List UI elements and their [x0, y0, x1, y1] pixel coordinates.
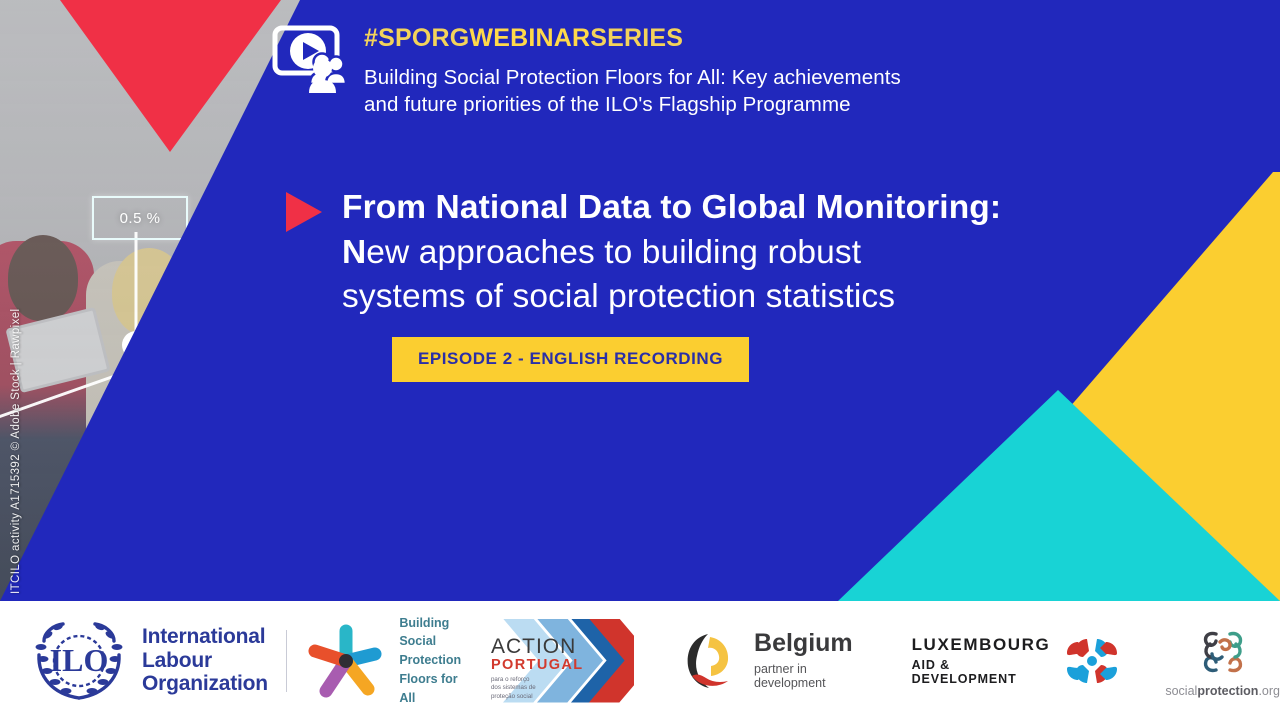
luxembourg-wordmark: LUXEMBOURG AID & DEVELOPMENT	[912, 635, 1051, 686]
header-block: #SPORGWEBINARSERIES Building Social Prot…	[272, 24, 901, 119]
hashtag-part-sporg: #SPORG	[364, 24, 469, 52]
subtitle-line-2: and future priorities of the ILO's Flags…	[364, 91, 901, 118]
hashtag-part-webinar: WEBINAR	[469, 24, 590, 52]
logo-belgium: Belgium partner in development	[678, 601, 866, 720]
ap-tagline-line-3: proteção social	[491, 693, 584, 702]
bspf-name-line-4: Floors for All	[399, 670, 463, 708]
logo-bspf: Building Social Protection Floors for Al…	[305, 601, 463, 720]
logo-action-portugal: ACTION PORTUGAL para o reforço dos siste…	[485, 617, 634, 705]
belgium-lion-icon	[678, 630, 740, 692]
series-hashtag: #SPORGWEBINARSERIES	[364, 26, 901, 51]
ap-name-line-2: PORTUGAL	[491, 657, 584, 673]
webinar-screen-people-icon	[272, 24, 346, 94]
spo-wordmark: socialprotection.org	[1165, 684, 1280, 698]
header-text-block: #SPORGWEBINARSERIES Building Social Prot…	[364, 24, 901, 119]
bspf-wordmark: Building Social Protection Floors for Al…	[399, 614, 463, 708]
bspf-name-line-3: Protection	[399, 651, 463, 670]
action-portugal-wordmark: ACTION PORTUGAL para o reforço dos siste…	[491, 635, 584, 703]
stat-box-top: 0.5 %	[92, 196, 188, 240]
title-line-3: systems of social protection statistics	[342, 275, 1001, 320]
belgium-tagline: partner in development	[754, 662, 866, 690]
ilo-name-line-2: Labour	[142, 649, 268, 673]
bspf-star-icon	[305, 623, 387, 699]
photo-credit-text: ITCILO activity A1715392 © Adobe Stock |…	[10, 0, 22, 594]
belgium-name: Belgium	[754, 631, 866, 656]
luxembourg-name: LUXEMBOURG	[912, 635, 1051, 655]
episode-badge: EPISODE 2 - ENGLISH RECORDING	[392, 337, 749, 382]
belgium-wordmark: Belgium partner in development	[754, 631, 866, 690]
logo-luxembourg: LUXEMBOURG AID & DEVELOPMENT	[912, 601, 1122, 720]
spo-name-part-2: protection	[1197, 684, 1258, 698]
logo-socialprotection-org: socialprotection.org	[1165, 601, 1280, 720]
logo-ilo: ILO International Labour Organization	[30, 601, 268, 720]
partner-logos-footer: ILO International Labour Organization	[0, 601, 1280, 720]
photo-person-4	[352, 271, 480, 601]
spo-name-part-3: .org	[1258, 684, 1280, 698]
bspf-name-line-1: Building	[399, 614, 463, 633]
luxembourg-petals-icon	[1063, 635, 1121, 687]
ilo-name-line-3: Organization	[142, 672, 268, 696]
main-title-row: From National Data to Global Monitoring:…	[286, 186, 1001, 320]
play-triangle-icon	[286, 192, 322, 232]
subtitle-line-1: Building Social Protection Floors for Al…	[364, 64, 901, 91]
title-line-2-initial: N	[342, 234, 366, 271]
ilo-name-line-1: International	[142, 625, 268, 649]
main-title: From National Data to Global Monitoring:…	[342, 186, 1001, 320]
bspf-name-line-2: Social	[399, 632, 463, 651]
ap-tagline-line-2: dos sistemas de	[491, 684, 584, 693]
spo-swirl-circle-icon	[1192, 624, 1254, 680]
webinar-promo-slide: 0.5 % 0.01 % ITCILO activity A1715392 © …	[0, 0, 1280, 720]
title-line-2-rest: ew approaches to building robust	[366, 234, 861, 271]
ilo-wordmark: International Labour Organization	[142, 625, 268, 696]
spo-name-part-1: social	[1165, 684, 1197, 698]
title-line-1: From National Data to Global Monitoring:	[342, 186, 1001, 231]
luxembourg-tagline: AID & DEVELOPMENT	[912, 658, 1051, 686]
hashtag-part-series: SERIES	[590, 24, 683, 52]
footer-divider	[286, 630, 287, 692]
series-subtitle: Building Social Protection Floors for Al…	[364, 64, 901, 119]
stat-box-bottom: 0.01 %	[322, 428, 430, 478]
ilo-laurel-wreath-icon: ILO	[30, 619, 128, 703]
title-line-2: New approaches to building robust	[342, 231, 1001, 276]
ap-tagline: para o reforço dos sistemas de proteção …	[491, 676, 584, 703]
ap-name-line-1: ACTION	[491, 635, 584, 659]
banner-area: 0.5 % 0.01 % ITCILO activity A1715392 © …	[0, 0, 1280, 601]
ap-tagline-line-1: para o reforço	[491, 676, 584, 685]
